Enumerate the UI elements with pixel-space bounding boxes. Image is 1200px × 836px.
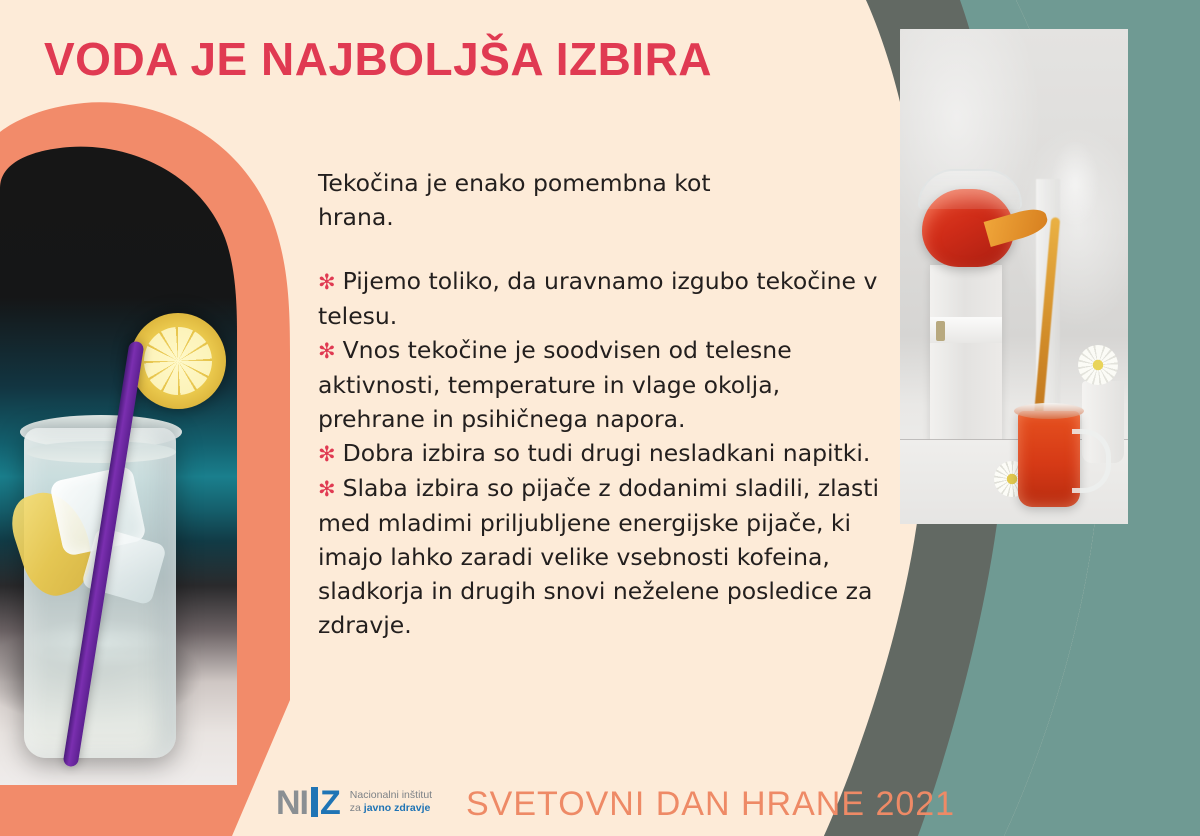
body-copy: Tekočina je enako pomembna kot hrana. ✻P… <box>318 166 888 642</box>
campaign-title: SVETOVNI DAN HRANE 2021 <box>466 785 955 824</box>
bullet-text-4: Slaba izbira so pijače z dodanimi sladil… <box>318 474 879 639</box>
page-title: VODA JE NAJBOLJŠA IZBIRA <box>44 32 712 86</box>
bullet-item-2: ✻Vnos tekočine je soodvisen od telesne a… <box>318 333 888 436</box>
tagline-line-1: Nacionalni inštitut <box>350 789 432 802</box>
logo-ni-text: NI <box>276 786 308 820</box>
bullet-text-3: Dobra izbira so tudi drugi nesladkani na… <box>343 439 871 467</box>
asterisk-bullet-icon: ✻ <box>318 477 336 501</box>
tagline-prefix: za <box>350 802 364 814</box>
lemon-slice-garnish <box>130 313 226 409</box>
poster-canvas: VODA JE NAJBOLJŠA IZBIRA Tekočina je ena… <box>0 0 1200 836</box>
logo-z-text: Z <box>320 786 340 820</box>
bullet-text-1: Pijemo toliko, da uravnamo izgubo tekoči… <box>318 267 877 330</box>
nijz-logo: NIZ Nacionalni inštitut za javno zdravje <box>276 784 432 820</box>
tagline-line-2: za javno zdravje <box>350 802 432 815</box>
asterisk-bullet-icon: ✻ <box>318 442 336 466</box>
logo-j-bar-icon <box>311 787 318 817</box>
intro-paragraph: Tekočina je enako pomembna kot hrana. <box>318 166 758 234</box>
nijz-wordmark: NIZ <box>276 784 340 820</box>
mason-jar-photo <box>0 143 237 785</box>
bullet-item-4: ✻Slaba izbira so pijače z dodanimi sladi… <box>318 471 888 642</box>
jar-inner-rim <box>26 441 176 463</box>
bullet-text-2: Vnos tekočine je soodvisen od telesne ak… <box>318 336 792 433</box>
tagline-bold: javno zdravje <box>364 802 431 814</box>
bullet-item-1: ✻Pijemo toliko, da uravnamo izgubo tekoč… <box>318 264 888 333</box>
asterisk-bullet-icon: ✻ <box>318 339 336 363</box>
asterisk-bullet-icon: ✻ <box>318 270 336 294</box>
nijz-tagline: Nacionalni inštitut za javno zdravje <box>350 789 432 815</box>
bullet-item-3: ✻Dobra izbira so tudi drugi nesladkani n… <box>318 436 888 471</box>
jar-photo-backdrop <box>0 143 237 785</box>
